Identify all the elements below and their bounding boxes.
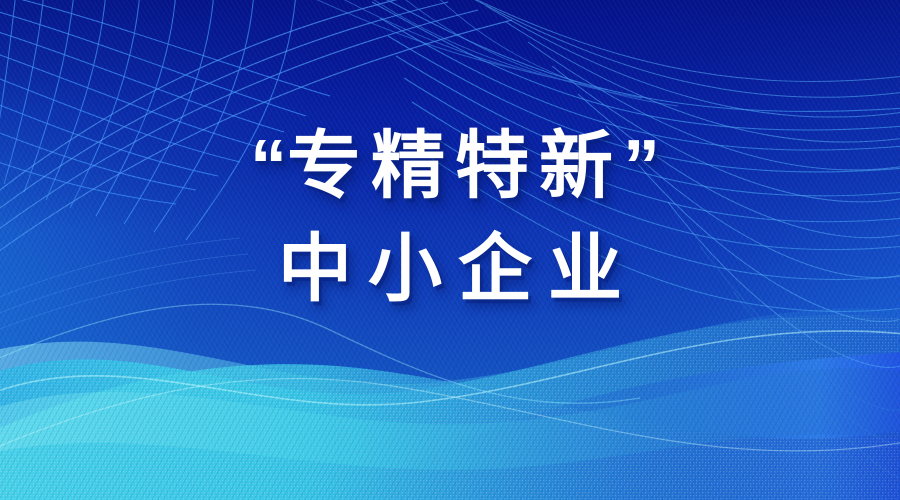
- headline-line-2: 中小企业: [0, 231, 900, 306]
- headline-block: “专精特新” 中小企业: [0, 128, 900, 307]
- headline-line-1: “专精特新”: [0, 128, 900, 203]
- banner-root: “专精特新” 中小企业: [0, 0, 900, 500]
- headline-line-1-text: 专精特新: [287, 124, 623, 207]
- open-quote-mark: “: [250, 124, 287, 207]
- close-quote-mark: ”: [623, 124, 660, 207]
